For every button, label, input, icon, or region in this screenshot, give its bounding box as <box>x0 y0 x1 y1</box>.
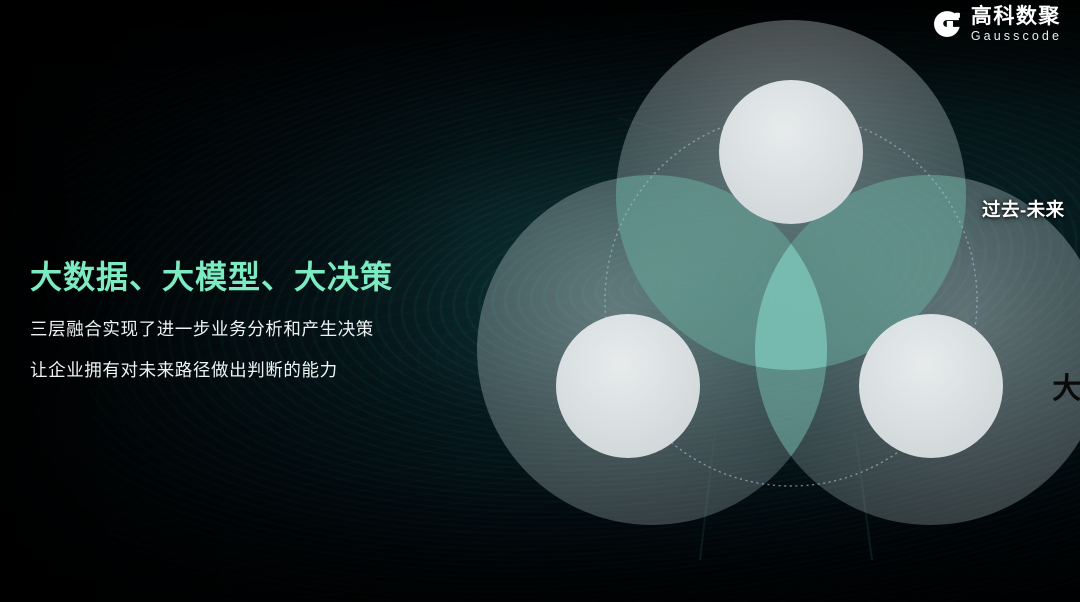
core-label-bigdata: 大数据 <box>1052 365 1080 407</box>
venn-svg <box>470 0 1080 602</box>
core-circle-bigmodel <box>859 314 1003 458</box>
page-subline-1: 三层融合实现了进一步业务分析和产生决策 <box>30 316 460 341</box>
venn-diagram: 大决策 大数据 大模型 业务场景 人工智能 知识图谱 过去-未来 技术-价值 人… <box>470 0 1080 602</box>
page-headline: 大数据、大模型、大决策 <box>30 252 460 298</box>
logo-wordmark: 高科数聚 Gausscode <box>971 6 1062 43</box>
left-text-block: 大数据、大模型、大决策 三层融合实现了进一步业务分析和产生决策 让企业拥有对未来… <box>30 252 460 382</box>
page-subline-2: 让企业拥有对未来路径做出判断的能力 <box>30 357 460 382</box>
core-circle-decision <box>719 80 863 224</box>
axis-label-past-future: 过去-未来 <box>982 196 1065 222</box>
gausscode-g-circle-icon <box>932 9 962 39</box>
logo-en-name: Gausscode <box>971 30 1062 43</box>
slide-canvas: 高科数聚 Gausscode 大数据、大模型、大决策 三层融合实现了进一步业务分… <box>0 0 1080 602</box>
logo-cn-name: 高科数聚 <box>971 6 1062 27</box>
brand-logo: 高科数聚 Gausscode <box>932 6 1062 43</box>
core-circle-bigdata <box>556 314 700 458</box>
